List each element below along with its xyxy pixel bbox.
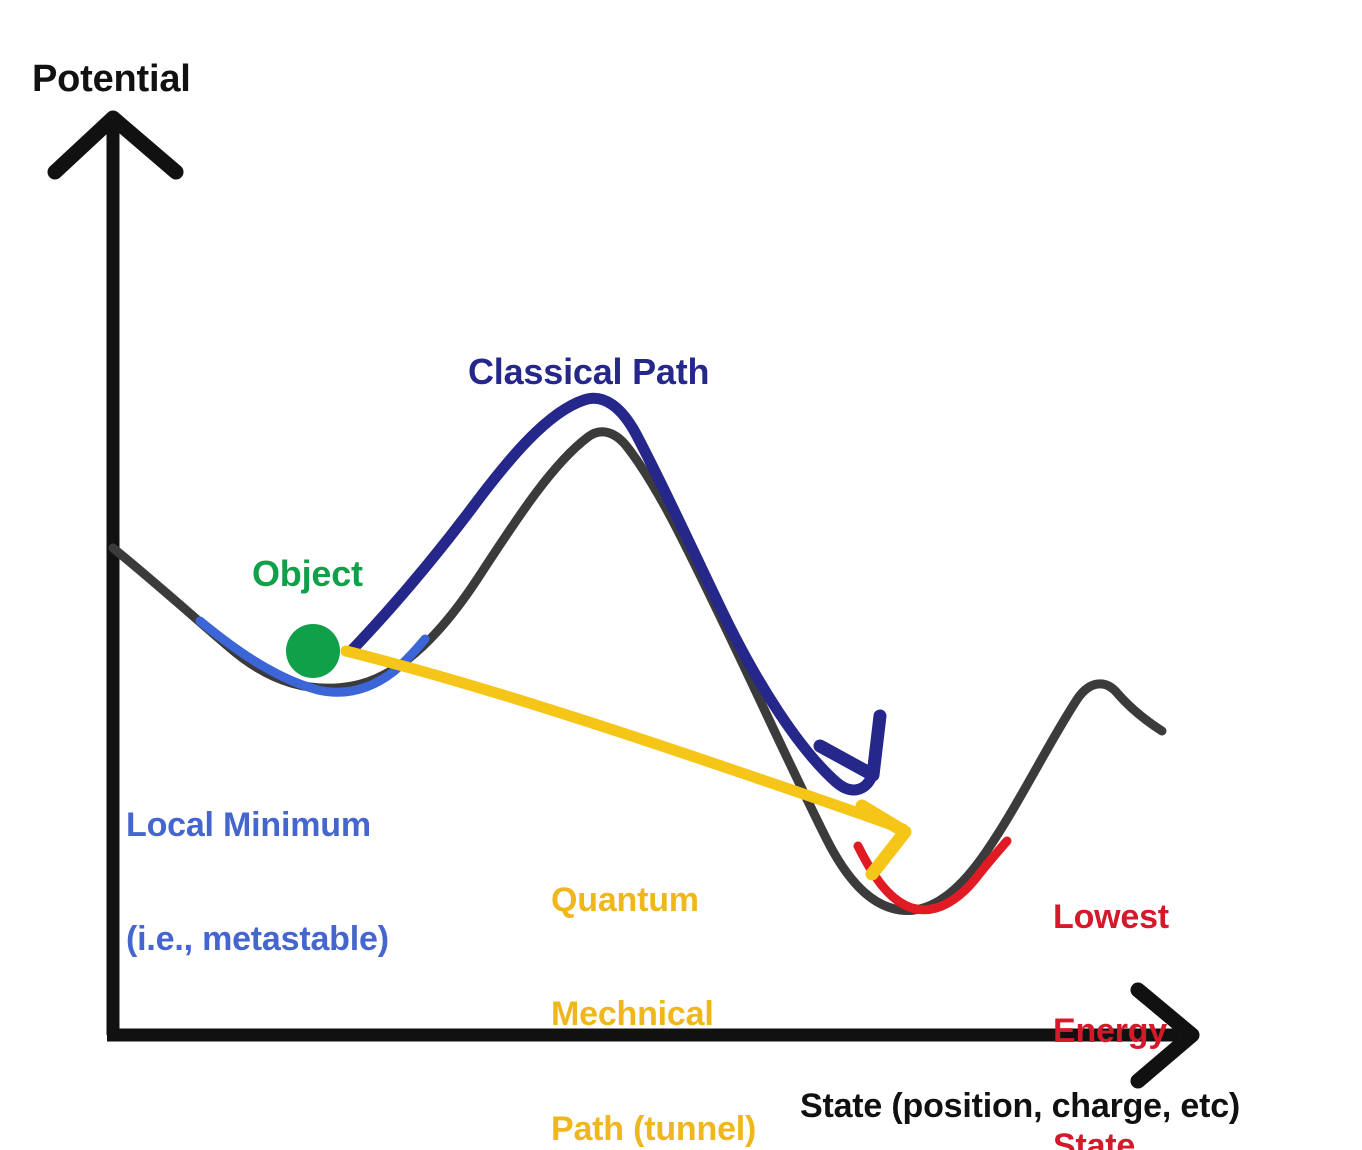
object-marker[interactable] bbox=[286, 624, 340, 678]
diagram-canvas: Potential State (position, charge, etc) … bbox=[0, 0, 1362, 1150]
quantum-path-label-line1: Quantum bbox=[551, 881, 756, 919]
y-axis-label: Potential bbox=[32, 58, 191, 101]
lowest-energy-label: Lowest Energy State bbox=[1053, 822, 1169, 1150]
quantum-path-label: Quantum Mechnical Path (tunnel) bbox=[551, 805, 756, 1150]
quantum-path-label-line3: Path (tunnel) bbox=[551, 1110, 756, 1148]
x-axis-label: State (position, charge, etc) bbox=[800, 1087, 1240, 1125]
object-label: Object bbox=[252, 554, 363, 594]
classical-path-arrowhead-icon bbox=[820, 716, 880, 775]
classical-path-label: Classical Path bbox=[468, 352, 709, 392]
local-minimum-label: Local Minimum (i.e., metastable) bbox=[126, 730, 389, 1035]
local-minimum-label-line2: (i.e., metastable) bbox=[126, 920, 389, 958]
local-minimum-label-line1: Local Minimum bbox=[126, 806, 389, 844]
lowest-energy-label-line1: Lowest bbox=[1053, 898, 1169, 936]
quantum-path-label-line2: Mechnical bbox=[551, 995, 756, 1033]
lowest-energy-label-line3: State bbox=[1053, 1127, 1169, 1150]
lowest-energy-label-line2: Energy bbox=[1053, 1012, 1169, 1050]
